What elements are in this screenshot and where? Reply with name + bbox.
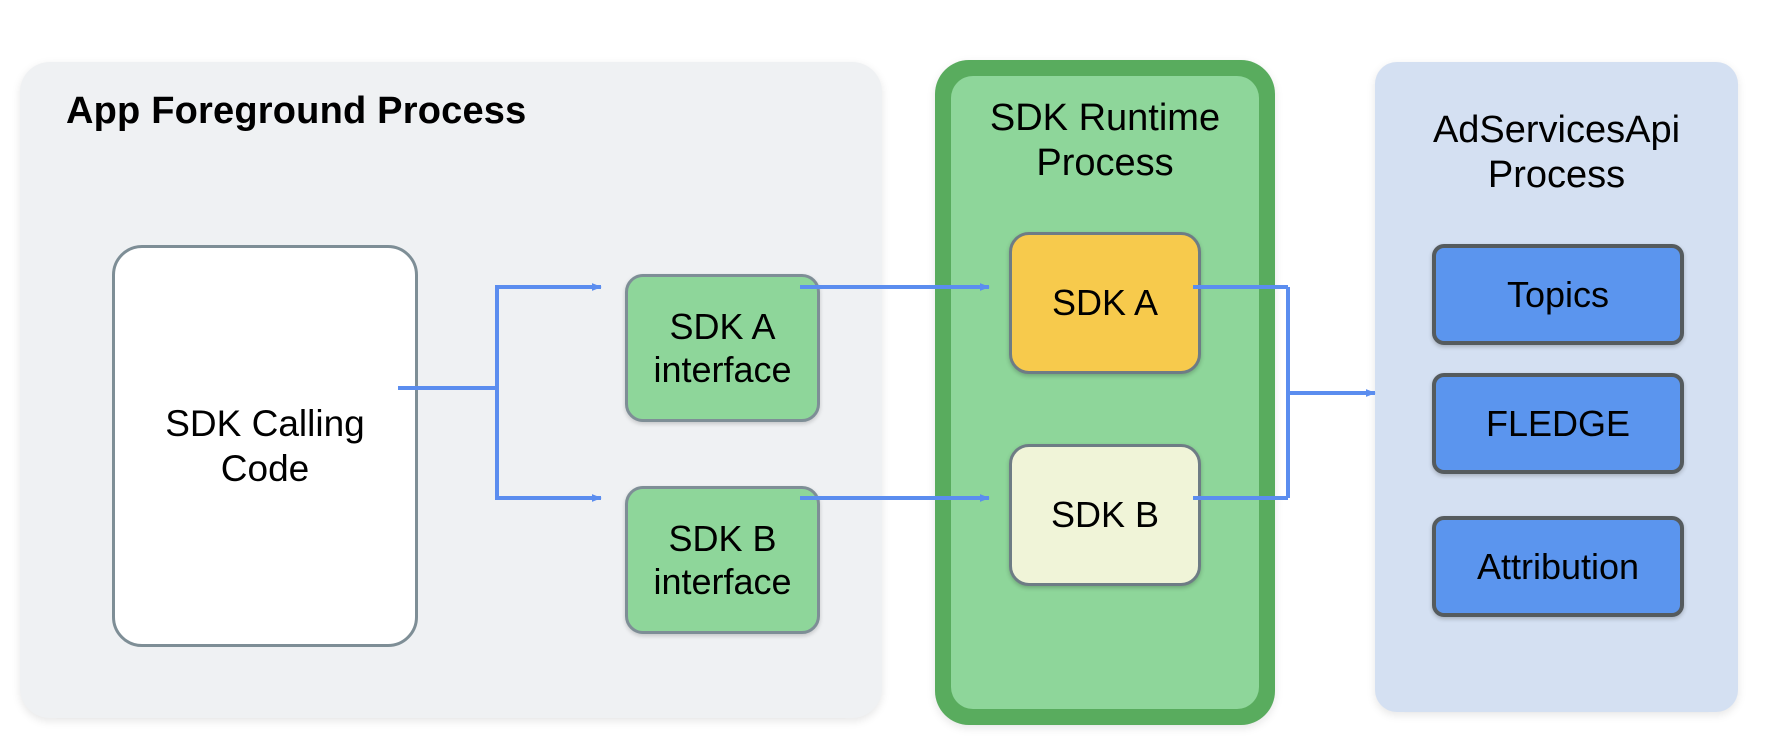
sdk-calling-code-label: SDK CallingCode [165,401,364,491]
adservices-api-process-title: AdServicesApiProcess [1375,108,1738,198]
sdk-b-interface-label: SDK Binterface [653,517,791,603]
sdk-runtime-process-panel: SDK RuntimeProcess SDK A SDK B [935,60,1275,725]
sdk-runtime-process-inner: SDK RuntimeProcess SDK A SDK B [951,76,1259,709]
sdk-a-interface-label: SDK Ainterface [653,305,791,391]
app-foreground-process-panel: App Foreground Process SDK CallingCode S… [20,62,882,718]
app-foreground-process-title: App Foreground Process [66,90,526,133]
sdk-calling-code-node: SDK CallingCode [112,245,418,647]
sdk-runtime-process-title: SDK RuntimeProcess [951,96,1259,186]
sdk-a-runtime-label: SDK A [1052,282,1158,324]
sdk-b-runtime-label: SDK B [1051,494,1159,536]
sdk-b-interface-node: SDK Binterface [625,486,820,634]
diagram-canvas: App Foreground Process SDK CallingCode S… [0,0,1776,746]
sdk-a-interface-node: SDK Ainterface [625,274,820,422]
api-box-fledge: FLEDGE [1432,373,1684,474]
adservices-api-process-panel: AdServicesApiProcess Topics FLEDGE Attri… [1375,62,1738,712]
sdk-b-runtime-node: SDK B [1009,444,1201,586]
api-box-attribution-label: Attribution [1477,546,1639,588]
api-box-attribution: Attribution [1432,516,1684,617]
api-box-topics: Topics [1432,244,1684,345]
sdk-a-runtime-node: SDK A [1009,232,1201,374]
api-box-topics-label: Topics [1507,274,1609,316]
api-box-fledge-label: FLEDGE [1486,403,1630,445]
